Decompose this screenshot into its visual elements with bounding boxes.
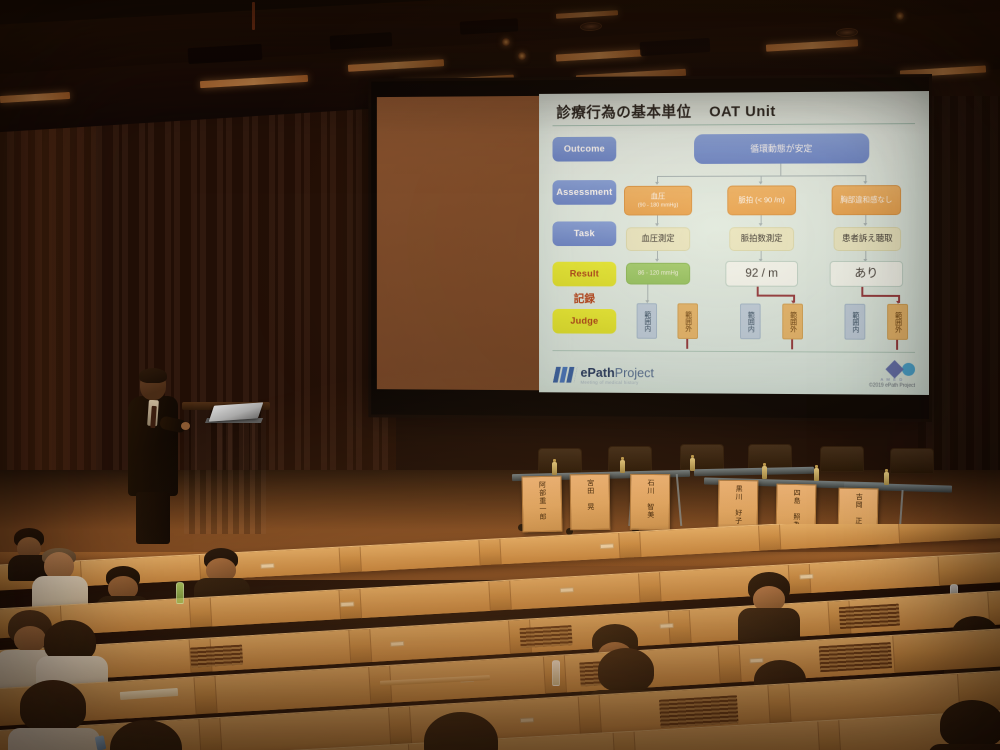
- judge-box-4-text: 範囲外: [789, 311, 797, 332]
- nameplate-text: 石川 智美: [646, 479, 654, 519]
- row-label-outcome-text: Outcome: [564, 144, 605, 155]
- amed-logo: A M E D ©2019 ePath Project: [869, 363, 915, 389]
- seat-number-plate: [390, 641, 404, 647]
- ceiling-spotlight-icon: [502, 38, 510, 46]
- task-box-2-text: 脈拍数測定: [741, 234, 783, 244]
- row-label-judge: Judge: [553, 309, 617, 334]
- assessment-box-3: 胸部違和感なし: [832, 185, 901, 215]
- judge-box-2-text: 範囲外: [684, 311, 692, 332]
- seat-vent: [519, 625, 572, 648]
- row-label-judge-text: Judge: [570, 316, 598, 327]
- slide-title-en: OAT Unit: [709, 103, 776, 120]
- judge-box-3: 範囲内: [740, 303, 761, 339]
- water-bottle: [884, 472, 889, 485]
- slide-title-ja: 診療行為の基本単位: [556, 104, 691, 122]
- row-label-assessment: Assessment: [553, 180, 617, 205]
- title-divider: [553, 123, 916, 126]
- nameplate: 宮田 晃: [570, 474, 611, 530]
- judge-box-3-text: 範囲内: [746, 311, 754, 332]
- row-label-assessment-text: Assessment: [556, 187, 612, 198]
- row-label-task: Task: [553, 221, 617, 246]
- assessment-box-2: 脈拍 (< 90 /m): [727, 185, 796, 215]
- row-label-result: Result: [553, 262, 617, 287]
- task-box-1-text: 血圧測定: [641, 234, 674, 244]
- judge-box-4: 範囲外: [782, 304, 803, 340]
- slide-title: 診療行為の基本単位OAT Unit: [556, 100, 775, 122]
- slide-copyright: ©2019 ePath Project: [869, 383, 915, 389]
- water-bottle: [814, 468, 819, 481]
- footer-divider: [553, 350, 916, 353]
- presenter-hair: [139, 368, 167, 383]
- outcome-box: 循環動態が安定: [694, 133, 869, 164]
- seat-number-plate: [340, 601, 354, 607]
- seat-number-plate: [600, 543, 614, 549]
- judge-box-1: 範囲内: [637, 303, 657, 339]
- judge-box-1-text: 範囲内: [643, 311, 651, 332]
- result-box-3-text: あり: [854, 267, 878, 281]
- task-box-2: 脈拍数測定: [729, 227, 794, 251]
- seat-number-plate: [749, 658, 763, 664]
- amed-mark-icon: [869, 363, 915, 376]
- ceiling-spotlight-icon: [518, 52, 526, 60]
- projection-screen: 診療行為の基本単位OAT Unit Outcome Assessment Tas…: [368, 74, 932, 422]
- judge-box-2: 範囲外: [677, 303, 697, 339]
- assessment-box-1: 血圧 (90 - 180 mmHg): [624, 186, 692, 216]
- result-box-2-text: 92 / m: [745, 267, 778, 281]
- seat-number-plate: [560, 587, 574, 593]
- seat-number-plate: [659, 623, 673, 629]
- row-label-outcome: Outcome: [553, 137, 617, 162]
- task-box-3: 患者訴え聴取: [834, 227, 901, 251]
- audience-seating: [0, 524, 1000, 750]
- seat-vent: [819, 642, 892, 672]
- judge-box-6: 範囲外: [887, 304, 908, 340]
- assessment-box-1-main: 血圧: [651, 193, 666, 202]
- amed-name-text: A M E D: [869, 377, 915, 382]
- seat-number-plate: [260, 563, 274, 569]
- ceiling-spotlight-icon: [896, 12, 904, 20]
- outcome-box-text: 循環動態が安定: [750, 143, 812, 154]
- row-label-task-text: Task: [574, 228, 595, 239]
- panel-chair: [820, 446, 864, 472]
- water-bottle: [620, 460, 625, 473]
- epath-brand-main: ePath: [580, 365, 614, 380]
- seat-vent: [190, 645, 243, 668]
- judge-box-5-text: 範囲内: [851, 311, 859, 332]
- assessment-box-2-main: 脈拍 (< 90 /m): [738, 196, 784, 205]
- nameplate-text: 黒川 好子: [734, 485, 742, 525]
- screen-unlit-area: [377, 96, 541, 390]
- seat-vent: [839, 604, 900, 630]
- epath-brand-text: ePathProject: [580, 365, 654, 380]
- presenter-hand: [181, 422, 190, 430]
- panel-chair: [748, 444, 792, 470]
- seat-number-plate: [520, 717, 534, 723]
- epath-tagline: Meeting of medical history: [580, 380, 654, 385]
- row-label-kiroku: 記録: [553, 290, 617, 306]
- epath-mark-icon: [553, 367, 577, 383]
- water-bottle: [552, 462, 557, 475]
- nameplate: 石川 智美: [630, 474, 670, 530]
- seat-number-plate: [799, 574, 813, 580]
- water-bottle: [176, 582, 184, 604]
- panel-chair: [538, 448, 582, 474]
- judge-box-5: 範囲内: [844, 304, 865, 340]
- task-box-1: 血圧測定: [626, 227, 690, 251]
- row-label-result-text: Result: [570, 269, 599, 280]
- judge-box-6-text: 範囲外: [894, 311, 902, 332]
- nameplate-text: 宮田 晃: [586, 479, 594, 511]
- task-box-3-text: 患者訴え聴取: [842, 234, 893, 244]
- panel-chair: [608, 446, 652, 472]
- presentation-slide: 診療行為の基本単位OAT Unit Outcome Assessment Tas…: [539, 91, 929, 395]
- water-bottle: [552, 660, 560, 686]
- nameplate-text: 阿部重一郎: [538, 481, 546, 521]
- presenter: [126, 370, 188, 540]
- seat-vent: [659, 695, 739, 728]
- result-box-3: あり: [830, 261, 903, 287]
- epath-brand-sub: Project: [615, 365, 654, 380]
- epath-project-logo: ePathProject Meeting of medical history: [554, 365, 654, 385]
- assessment-box-1-sub: (90 - 180 mmHg): [638, 202, 678, 208]
- panel-chair: [890, 448, 934, 474]
- conference-hall-photo: 診療行為の基本単位OAT Unit Outcome Assessment Tas…: [0, 0, 1000, 750]
- panel-table: [694, 467, 814, 477]
- result-box-1: 86 - 120 mmHg: [626, 263, 690, 285]
- result-box-1-text: 86 - 120 mmHg: [638, 270, 678, 277]
- result-box-2: 92 / m: [725, 261, 798, 287]
- water-bottle: [690, 458, 695, 471]
- water-bottle: [762, 466, 767, 479]
- panel-chair: [680, 444, 724, 470]
- lectern: [184, 406, 266, 534]
- assessment-box-3-main: 胸部違和感なし: [840, 196, 892, 205]
- ceiling-rigging-pipe: [252, 2, 255, 30]
